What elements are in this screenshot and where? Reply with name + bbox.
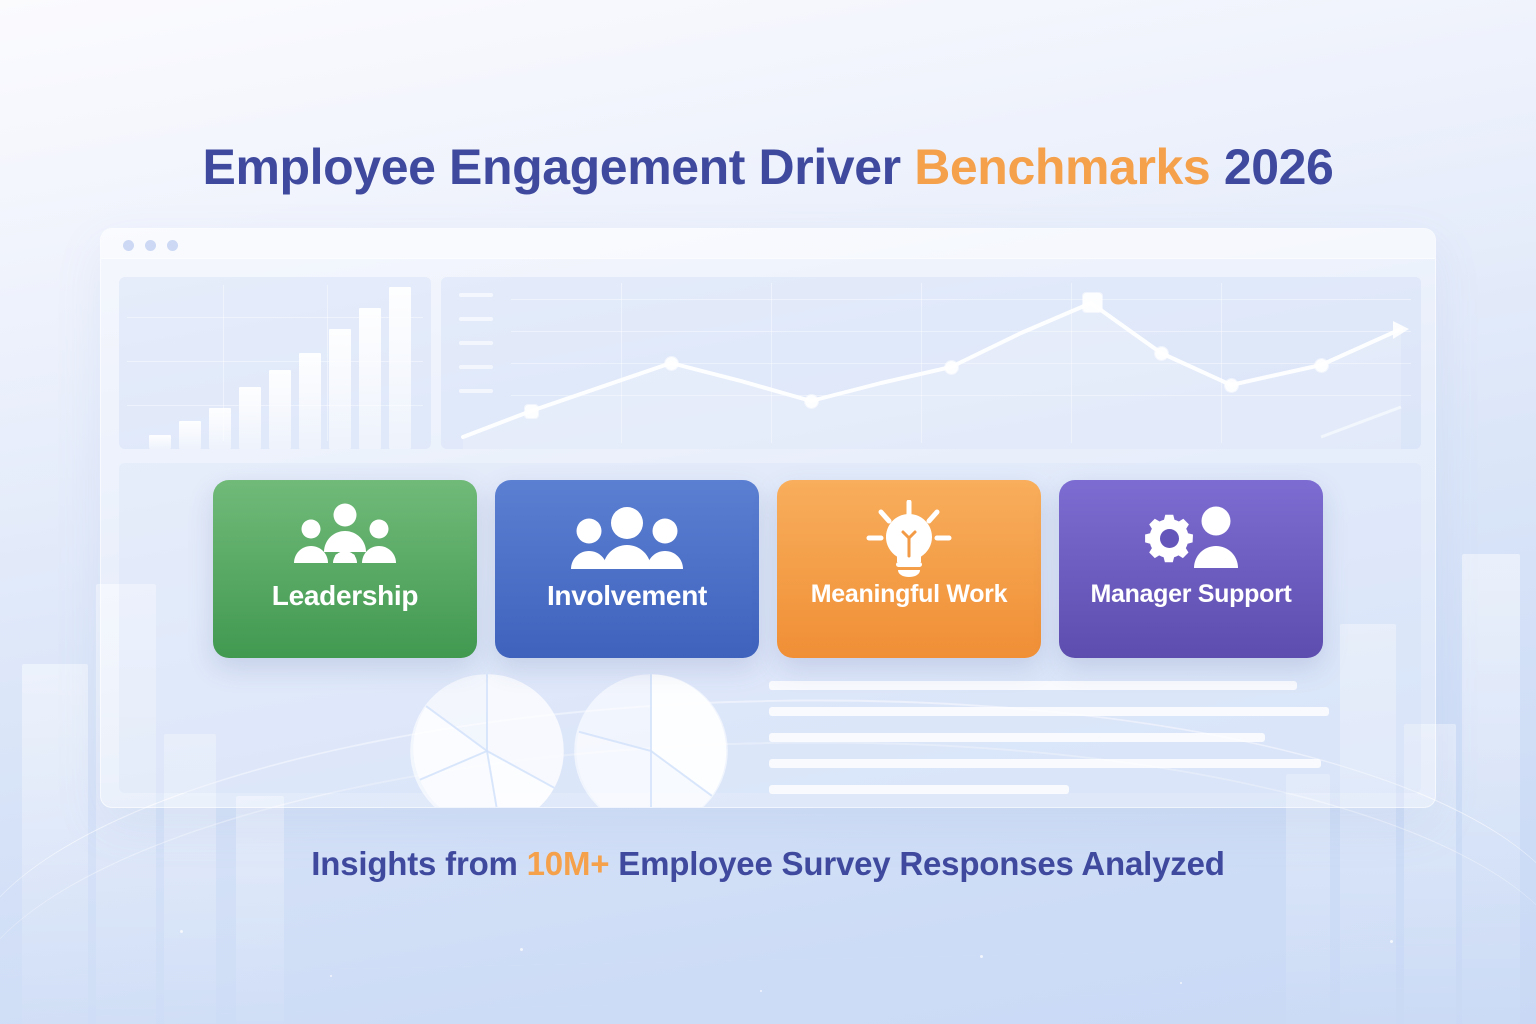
page-title-accent: Benchmarks	[914, 139, 1210, 195]
driver-card-label: Involvement	[547, 582, 707, 610]
bar	[239, 387, 261, 449]
window-dot-icon	[145, 240, 156, 251]
data-point-marker	[805, 395, 818, 408]
page-subtitle-part-1: Insights from	[311, 845, 526, 882]
driver-card-manager-support[interactable]: Manager Support	[1059, 480, 1323, 658]
driver-card-label: Manager Support	[1090, 582, 1291, 607]
bar	[269, 370, 291, 449]
placeholder-text-line	[769, 759, 1321, 768]
window-title-bar	[101, 229, 1435, 259]
page-subtitle: Insights from 10M+ Employee Survey Respo…	[0, 845, 1536, 883]
driver-card-label: Meaningful Work	[811, 582, 1007, 607]
background-bar	[236, 796, 284, 1024]
data-point-marker	[525, 405, 538, 418]
data-point-marker	[1083, 293, 1102, 312]
bar	[389, 287, 411, 449]
page-subtitle-accent: 10M+	[527, 845, 610, 882]
driver-card-group: Leadership Involvement	[213, 480, 1323, 658]
driver-card-label: Leadership	[272, 582, 418, 610]
lightbulb-icon	[861, 498, 957, 580]
background-speck	[180, 930, 183, 933]
pie-chart-right	[571, 671, 731, 808]
leadership-people-icon	[289, 498, 401, 580]
background-bar	[1286, 774, 1330, 1024]
infographic-canvas: Employee Engagement Driver Benchmarks 20…	[0, 0, 1536, 1024]
background-speck	[520, 948, 523, 951]
bar	[149, 435, 171, 449]
page-title: Employee Engagement Driver Benchmarks 20…	[0, 138, 1536, 196]
bar	[299, 353, 321, 449]
page-title-part-2: 2026	[1210, 139, 1333, 195]
page-subtitle-part-2: Employee Survey Responses Analyzed	[609, 845, 1224, 882]
bar	[359, 308, 381, 449]
line-chart-panel	[441, 277, 1421, 449]
page-title-part-1: Employee Engagement Driver	[203, 139, 915, 195]
background-speck	[1390, 940, 1393, 943]
window-dot-icon	[123, 240, 134, 251]
data-point-marker	[945, 361, 958, 374]
bar	[209, 408, 231, 449]
placeholder-text-line	[769, 733, 1265, 742]
background-bar	[1462, 554, 1520, 1024]
window-dot-icon	[167, 240, 178, 251]
background-bar	[22, 664, 88, 1024]
data-point-marker	[1315, 359, 1328, 372]
background-speck	[760, 990, 762, 992]
background-speck	[1180, 982, 1182, 984]
pie-chart-left	[407, 671, 567, 808]
placeholder-text-line	[769, 707, 1329, 716]
gear-person-icon	[1135, 498, 1247, 580]
driver-card-leadership[interactable]: Leadership	[213, 480, 477, 658]
data-point-marker	[1225, 379, 1238, 392]
driver-card-involvement[interactable]: Involvement	[495, 480, 759, 658]
data-point-marker	[665, 357, 678, 370]
data-point-marker	[1155, 347, 1168, 360]
background-speck	[980, 955, 983, 958]
bar	[179, 421, 201, 449]
bar-chart-panel	[119, 277, 431, 449]
placeholder-text-line	[769, 681, 1297, 690]
background-speck	[330, 975, 332, 977]
gridline	[327, 285, 328, 441]
driver-card-meaningful-work[interactable]: Meaningful Work	[777, 480, 1041, 658]
placeholder-text-line	[769, 785, 1069, 794]
group-people-icon	[569, 498, 685, 580]
line-chart-svg	[441, 277, 1421, 449]
bar	[329, 329, 351, 449]
